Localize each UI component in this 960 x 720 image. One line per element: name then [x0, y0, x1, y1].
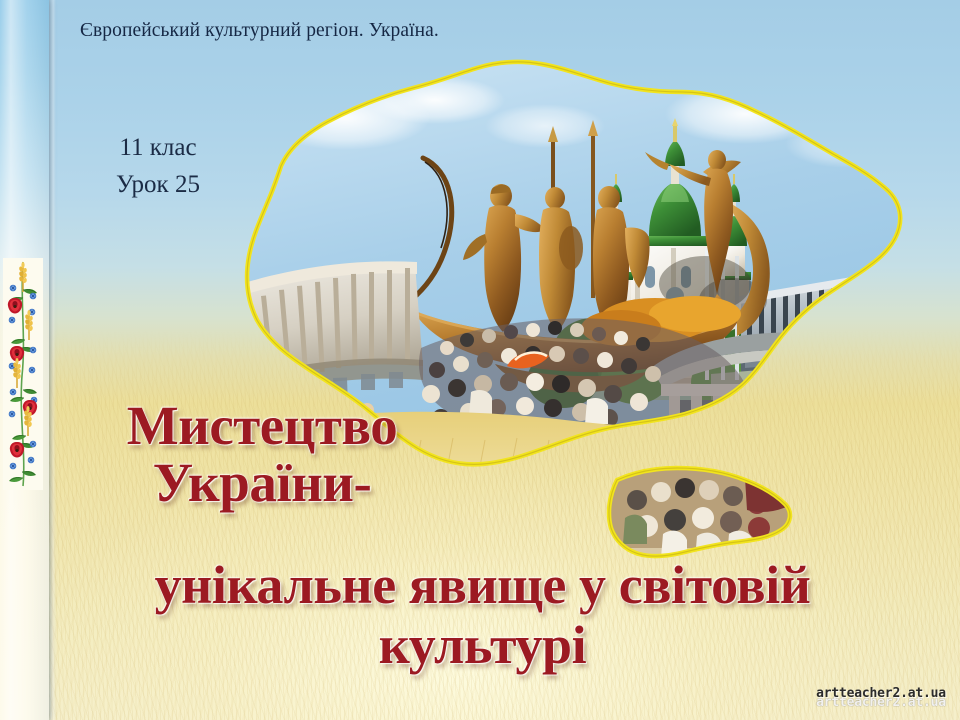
site-watermark: artteacher2.at.ua artteacher2.at.ua [808, 686, 954, 714]
title-line-4: культурі [30, 618, 935, 672]
title-line-2: України- [52, 455, 472, 510]
embroidery-ornament-icon [3, 258, 43, 490]
title-line-3: унікальне явище у світовій [30, 558, 935, 612]
title-line-1: Мистецтво [52, 398, 472, 453]
main-title-part1: Мистецтво України- [52, 398, 472, 510]
slide-header-text: Європейський культурний регіон. Україна. [80, 20, 439, 42]
main-title-part2: унікальне явище у світовій культурі [30, 558, 935, 672]
presentation-slide: Європейський культурний регіон. Україна.… [0, 0, 960, 720]
watermark-text: artteacher2.at.ua [808, 686, 954, 701]
